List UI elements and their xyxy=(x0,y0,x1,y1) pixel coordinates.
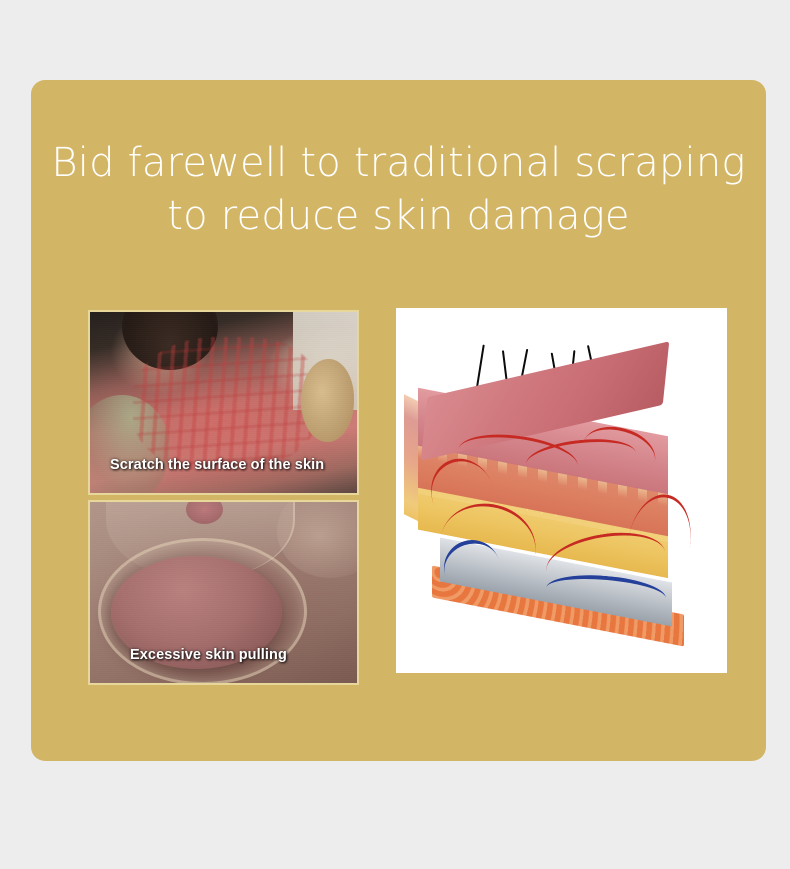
photo-arm-region xyxy=(301,359,354,442)
scrape-marks xyxy=(133,337,320,471)
image-gallery: Scratch the surface of the skin Excessiv… xyxy=(88,308,723,673)
cupping-skin-photo[interactable]: Excessive skin pulling xyxy=(88,500,359,685)
skin-anatomy-artwork xyxy=(396,308,727,673)
skin-anatomy-illustration[interactable] xyxy=(396,308,727,673)
photo-caption-scratch: Scratch the surface of the skin xyxy=(110,457,324,473)
photo-caption-pulling: Excessive skin pulling xyxy=(130,647,287,663)
scraped-skin-photo[interactable]: Scratch the surface of the skin xyxy=(88,310,359,495)
page-title: Bid farewell to traditional scraping to … xyxy=(31,137,766,243)
gallery-left-column: Scratch the surface of the skin Excessiv… xyxy=(88,310,359,685)
promo-panel: Bid farewell to traditional scraping to … xyxy=(31,80,766,761)
